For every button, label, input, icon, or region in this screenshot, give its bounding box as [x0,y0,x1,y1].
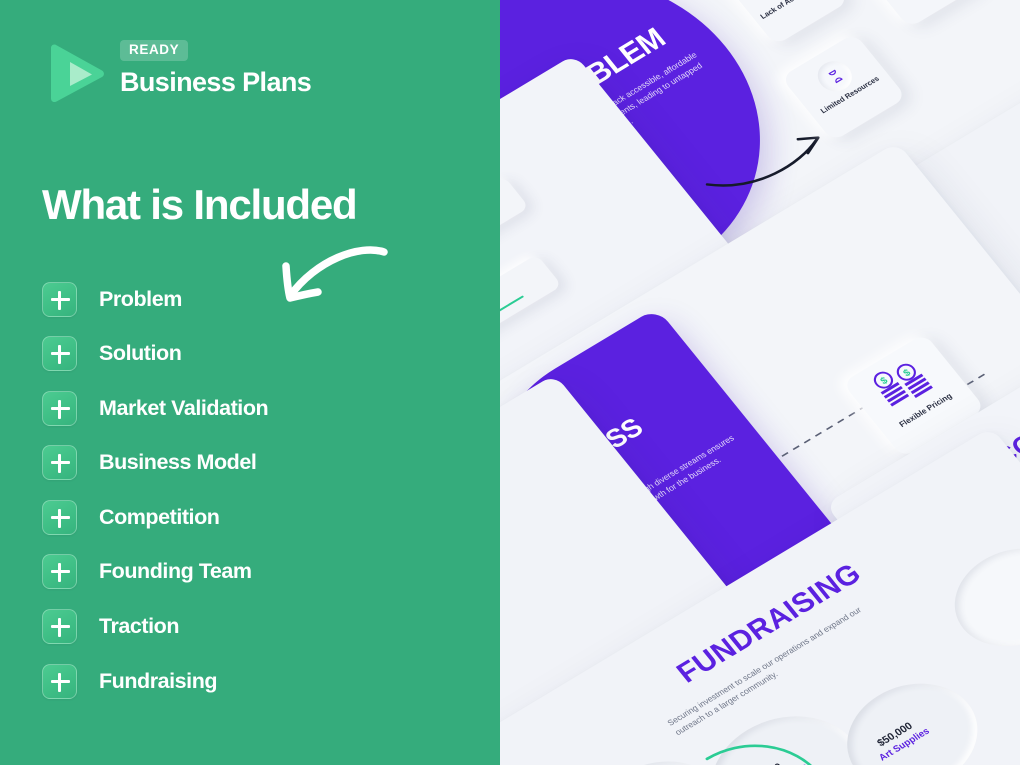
plus-icon [42,336,77,371]
fundraising-decor-knob [933,529,1020,666]
list-item-label: Problem [99,287,182,312]
problem-card-high-cost[interactable]: High Cost [857,0,983,28]
list-item[interactable]: Solution [42,336,462,372]
page-title: What is Included [42,183,356,227]
brand-title: Business Plans [120,66,311,98]
plus-icon [42,445,77,480]
list-item-label: Traction [99,614,179,639]
hourglass-icon [824,66,846,85]
plus-icon [42,500,77,535]
brand-block: READY Business Plans [45,38,375,110]
plus-icon [42,609,77,644]
list-item-label: Competition [99,505,219,530]
plus-icon [42,391,77,426]
problem-card-accessibility-label: Lack of Accessibility [753,0,833,24]
plus-icon [42,282,77,317]
list-item[interactable]: Market Validation [42,390,462,426]
list-item[interactable]: Competition [42,499,462,535]
included-features-list: Problem Solution Market Validation Busin… [42,281,462,718]
list-item-label: Market Validation [99,396,268,421]
slide-preview-canvas: THE PROBLEM Many individuals and communi… [0,0,1020,765]
list-item-label: Solution [99,341,181,366]
plus-icon [42,664,77,699]
problem-card-high-cost-label: High Cost [886,0,966,7]
list-item-label: Founding Team [99,559,252,584]
list-item[interactable]: Traction [42,609,462,645]
list-item[interactable]: Problem [42,281,462,317]
ready-badge: READY [120,40,188,61]
problem-card-accessibility[interactable]: Lack of Accessibility [723,0,849,45]
list-item[interactable]: Fundraising [42,663,462,699]
list-item-label: Business Model [99,450,256,475]
plus-icon [42,554,77,589]
play-triangle-icon [45,44,107,102]
list-item[interactable]: Founding Team [42,554,462,590]
list-item-label: Fundraising [99,669,217,694]
list-item[interactable]: Business Model [42,445,462,481]
slide-deck-preview: THE PROBLEM Many individuals and communi… [500,0,1020,765]
deck-perspective-group: THE PROBLEM Many individuals and communi… [500,0,1020,765]
left-info-panel: READY Business Plans What is Included Pr… [0,0,500,765]
